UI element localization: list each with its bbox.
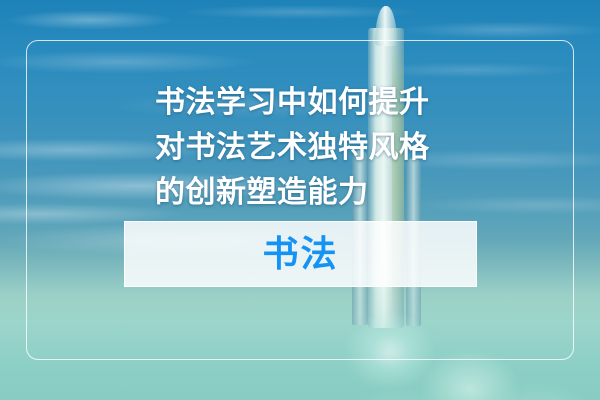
keyword-label: 书法 xyxy=(262,236,338,272)
title-line-1: 书法学习中如何提升 xyxy=(155,80,485,125)
poster-canvas: 书法学习中如何提升 对书法艺术独特风格 的创新塑造能力 书法 xyxy=(0,0,600,400)
page-title: 书法学习中如何提升 对书法艺术独特风格 的创新塑造能力 xyxy=(155,80,485,215)
title-line-2: 对书法艺术独特风格 xyxy=(155,125,485,170)
title-line-3: 的创新塑造能力 xyxy=(155,170,485,215)
keyword-banner: 书法 xyxy=(124,221,477,287)
bottom-teal-tint xyxy=(0,270,600,400)
